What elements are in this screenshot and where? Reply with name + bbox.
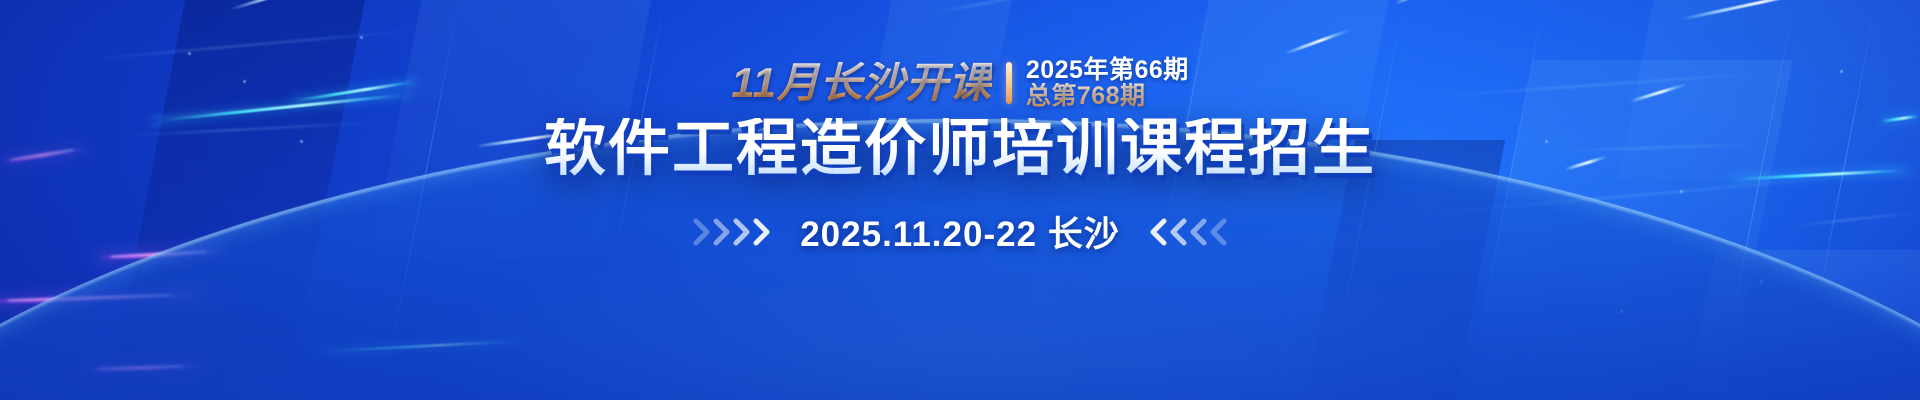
gold-divider xyxy=(1006,62,1012,104)
issue-number-current: 2025年第66期 xyxy=(1026,57,1189,83)
dateline-text: 2025.11.20-22 长沙 xyxy=(800,206,1120,257)
eyebrow-row: 11月长沙开课 2025年第66期 总第768期 xyxy=(731,56,1189,110)
banner-headline: 软件工程造价师培训课程招生 xyxy=(544,118,1376,180)
promo-banner: 11月长沙开课 2025年第66期 总第768期 软件工程造价师培训课程招生 2… xyxy=(0,0,1920,400)
banner-content: 11月长沙开课 2025年第66期 总第768期 软件工程造价师培训课程招生 2… xyxy=(0,0,1920,400)
issue-number-total: 总第768期 xyxy=(1026,83,1189,109)
chevron-left-icon xyxy=(1138,215,1228,249)
eyebrow-text: 11月长沙开课 xyxy=(731,62,992,104)
issue-badge: 2025年第66期 总第768期 xyxy=(1026,57,1189,109)
dateline-row: 2025.11.20-22 长沙 xyxy=(692,206,1228,257)
chevron-right-icon xyxy=(692,215,782,249)
